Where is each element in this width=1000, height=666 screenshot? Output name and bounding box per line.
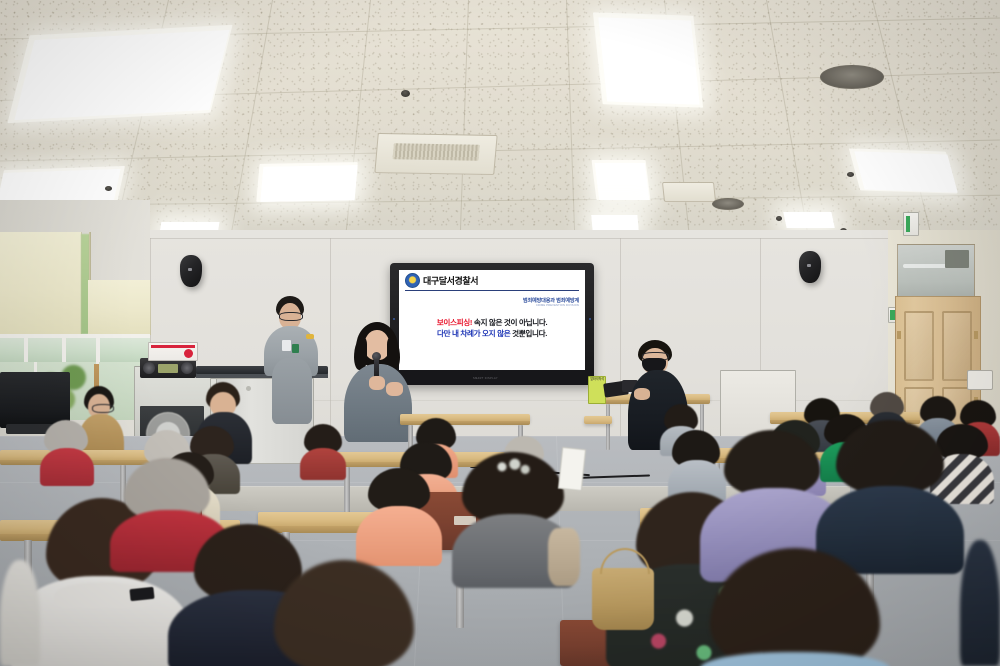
audience-front-peach-jacket: [356, 468, 442, 564]
slide-line2-rest: 것뿐입니다.: [510, 329, 547, 338]
slide-org-title: 대구달서경찰서: [423, 274, 478, 287]
ceiling-speaker: [820, 65, 884, 89]
audience-foreground-head: [700, 548, 890, 666]
transom-light-reflection: [903, 264, 947, 268]
hair-accessory: [494, 458, 534, 480]
presenter-hand: [369, 376, 385, 390]
display-side-button[interactable]: [589, 318, 591, 320]
smoke-detector-icon: [105, 186, 112, 191]
display-side-button[interactable]: [393, 318, 395, 320]
handbag: [592, 568, 654, 630]
handout-paper: [558, 447, 586, 491]
audience-arm: [548, 528, 580, 586]
roller-blind: [0, 232, 39, 334]
police-officer-at-podium: [262, 296, 322, 426]
wall-switch-plate[interactable]: [967, 370, 993, 390]
ceiling-ac-unit: [374, 133, 497, 175]
police-emblem-icon: [405, 273, 420, 288]
roller-blind: [88, 280, 151, 335]
slide-line1-rest: 속지 않은 것이 아닙니다.: [472, 318, 547, 327]
window-mullion: [24, 334, 28, 362]
ceiling-light-panel: [854, 151, 957, 192]
window-mullion: [62, 334, 66, 362]
officer-name-tag: [282, 340, 291, 351]
ceiling-light-panel: [591, 215, 638, 231]
slide-department-en: CRIME PREVENTION DIVISION: [405, 304, 579, 307]
wall-speaker-left: [180, 255, 202, 287]
wall-speaker-right: [799, 251, 821, 283]
slide-content: 대구달서경찰서 범죄예방대응과 범죄예방계 CRIME PREVENTION D…: [399, 270, 585, 370]
slide-department: 범죄예방대응과 범죄예방계: [405, 297, 579, 304]
ceiling-light-panel: [783, 212, 834, 228]
slide-header: 대구달서경찰서: [405, 273, 579, 291]
ceiling: [0, 0, 1000, 255]
slide-screen: 대구달서경찰서 범죄예방대응과 범죄예방계 CRIME PREVENTION D…: [399, 270, 585, 370]
ceiling-light-panel: [14, 30, 229, 120]
audience-foreground-head: [264, 560, 424, 666]
audience-table: [584, 416, 612, 424]
smartphone-on-table[interactable]: [129, 587, 154, 601]
presenter-hand: [386, 382, 403, 396]
slide-line2-blue: 다만 내 차례가 오지 않은: [437, 329, 510, 338]
smoke-detector-icon: [776, 216, 782, 221]
portable-stereo: [140, 358, 196, 378]
roller-blind: [38, 232, 82, 334]
display-brand-label: SMART DISPLAY: [473, 377, 498, 380]
operator-hand: [634, 388, 650, 400]
ceiling-speaker: [712, 198, 744, 210]
window-glass-upper: [0, 334, 150, 362]
ceiling-light-panel: [595, 163, 650, 200]
seminar-room-photo: 대구달서경찰서 범죄예방대응과 범죄예방계 CRIME PREVENTION D…: [0, 0, 1000, 666]
product-box: [148, 342, 198, 361]
ceiling-light-panel: [598, 17, 699, 104]
window-mullion: [96, 334, 100, 362]
smoke-detector-icon: [401, 90, 410, 97]
audience-member: [300, 424, 346, 476]
slide-keyword-voicephishing: 보이스피싱!: [437, 318, 472, 327]
audience-foreground-edge: [0, 560, 40, 666]
operator-sign-text: 앞좌석착석: [589, 377, 605, 381]
slide-headline: 보이스피싱! 속지 않은 것이 아닙니다. 다만 내 차례가 오지 않은 것뿐입…: [405, 318, 579, 340]
window-mullion: [0, 334, 150, 338]
audience-front-with-hairpin: [452, 452, 576, 584]
ceiling-light-panel: [260, 165, 357, 202]
transom-dark-area: [945, 250, 969, 268]
smoke-detector-icon: [847, 172, 854, 177]
ceiling-ac-unit-secondary: [662, 182, 716, 202]
emergency-exit-sign: [903, 212, 919, 236]
audience-member: [40, 420, 94, 482]
audience-foreground-edge: [960, 540, 1000, 666]
